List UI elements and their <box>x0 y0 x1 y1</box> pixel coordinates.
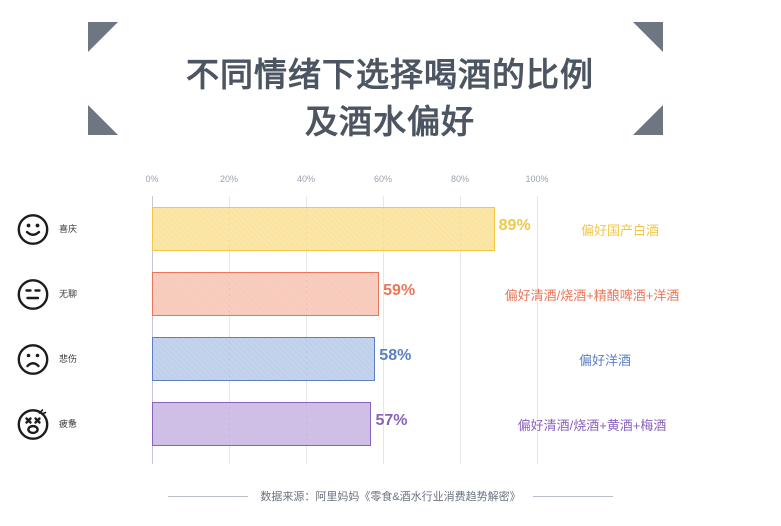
smiley-neutral-face <box>16 277 50 311</box>
footer: 数据来源：阿里妈妈《零食&酒水行业消费趋势解密》 <box>0 488 781 504</box>
corner-triangle-bottom-left-icon <box>88 105 118 135</box>
title-block: 不同情绪下选择喝酒的比例 及酒水偏好 <box>0 0 781 160</box>
corner-triangle-top-left-icon <box>88 22 118 52</box>
chart-row: 58% <box>152 326 537 391</box>
bar[interactable] <box>152 337 375 381</box>
footer-rule-left <box>168 496 248 497</box>
category-label: 悲伤 <box>59 352 77 365</box>
bar[interactable] <box>152 402 371 446</box>
bar-value-label: 59% <box>383 282 415 300</box>
bar[interactable] <box>152 207 495 251</box>
smiley-happy-face <box>16 212 50 246</box>
smiley-tired-face <box>16 407 50 441</box>
bar-value-label: 89% <box>499 217 531 235</box>
preference-annotation: 偏好清酒/烧酒+精酿啤酒+洋酒 <box>505 285 680 304</box>
preference-annotation: 偏好洋酒 <box>579 350 631 369</box>
bar-value-label: 58% <box>379 347 411 365</box>
chart-row: 89% <box>152 196 537 261</box>
page-title-line-2: 及酒水偏好 <box>130 99 650 146</box>
page-title-line-1: 不同情绪下选择喝酒的比例 <box>130 52 650 99</box>
category-group: 喜庆 <box>16 196 77 261</box>
preference-annotation: 偏好国产白酒 <box>581 220 659 239</box>
x-axis-tick-label: 40% <box>297 174 315 184</box>
corner-triangle-top-right-icon <box>633 22 663 52</box>
source-text: 数据来源：阿里妈妈《零食&酒水行业消费趋势解密》 <box>260 488 520 504</box>
chart-row: 57% <box>152 391 537 456</box>
bar[interactable] <box>152 272 379 316</box>
category-label: 无聊 <box>59 287 77 300</box>
bar-value-label: 57% <box>375 412 407 430</box>
footer-rule-right <box>533 496 613 497</box>
x-axis-tick-label: 20% <box>220 174 238 184</box>
category-group: 悲伤 <box>16 326 77 391</box>
plot-area: 0%20%40%60%80%100%89%59%58%57% <box>152 196 537 464</box>
category-label: 喜庆 <box>59 222 77 235</box>
category-label: 疲惫 <box>59 417 77 430</box>
x-axis-tick-label: 60% <box>374 174 392 184</box>
x-axis-tick-label: 100% <box>525 174 548 184</box>
chart-row: 59% <box>152 261 537 326</box>
x-axis-tick-label: 0% <box>145 174 158 184</box>
x-axis-tick-label: 80% <box>451 174 469 184</box>
category-group: 无聊 <box>16 261 77 326</box>
category-group: 疲惫 <box>16 391 77 456</box>
smiley-sad-face <box>16 342 50 376</box>
page-title: 不同情绪下选择喝酒的比例 及酒水偏好 <box>130 52 650 146</box>
preference-annotation: 偏好清酒/烧酒+黄酒+梅酒 <box>518 415 667 434</box>
bar-chart: 0%20%40%60%80%100%89%59%58%57% 喜庆无聊悲伤疲惫 … <box>0 160 781 470</box>
